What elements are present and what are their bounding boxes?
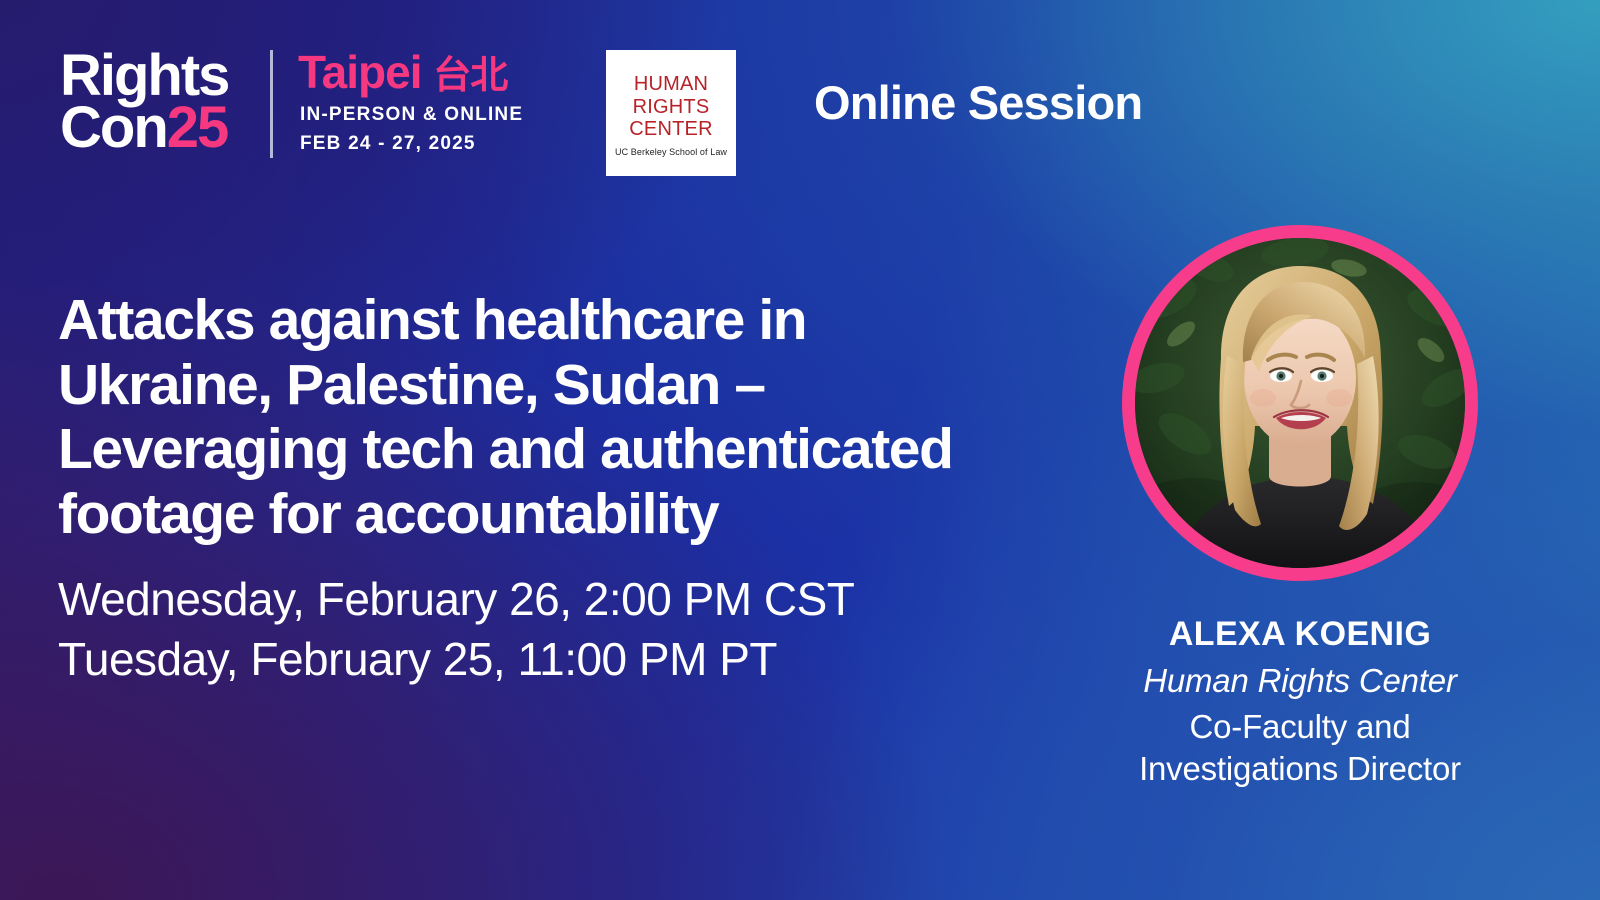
session-time-secondary: Tuesday, February 25, 11:00 PM PT xyxy=(58,629,1058,690)
rightscon-wordmark-con: Con xyxy=(60,95,167,160)
hrc-logo-subtitle: UC Berkeley School of Law xyxy=(615,147,727,157)
poster-background: Rights Con25 Taipei 台北 IN-PERSON & ONLIN… xyxy=(0,0,1600,900)
speaker-role-line2: Investigations Director xyxy=(1040,748,1560,790)
rightscon-wordmark-line2: Con25 xyxy=(60,94,227,161)
speaker-role-line1: Co-Faculty and xyxy=(1040,706,1560,748)
session-format-label: Online Session xyxy=(814,75,1142,130)
rightscon-year: 25 xyxy=(167,95,228,160)
rightscon-logo: Rights Con25 Taipei 台北 IN-PERSON & ONLIN… xyxy=(60,42,530,167)
speaker-card: ALEXA KOENIG Human Rights Center Co-Facu… xyxy=(1040,225,1560,790)
hrc-logo-line3: CENTER xyxy=(629,118,712,140)
speaker-name: ALEXA KOENIG xyxy=(1040,615,1560,654)
session-time-primary: Wednesday, February 26, 2:00 PM CST xyxy=(58,569,1058,630)
header: Rights Con25 Taipei 台北 IN-PERSON & ONLIN… xyxy=(0,0,1600,200)
speaker-avatar xyxy=(1122,225,1478,581)
hrc-logo-line1: HUMAN xyxy=(634,73,708,95)
session-times: Wednesday, February 26, 2:00 PM CST Tues… xyxy=(58,569,1058,690)
logo-divider xyxy=(270,50,273,158)
hrc-logo-line2: RIGHTS xyxy=(633,96,710,118)
session-title: Attacks against healthcare in Ukraine, P… xyxy=(58,288,1008,547)
speaker-portrait-photo xyxy=(1135,238,1465,568)
city-label-cjk: 台北 xyxy=(433,53,507,97)
human-rights-center-logo: HUMAN RIGHTS CENTER UC Berkeley School o… xyxy=(606,50,736,176)
speaker-role: Co-Faculty and Investigations Director xyxy=(1040,706,1560,790)
event-dates-line: FEB 24 - 27, 2025 xyxy=(300,133,476,155)
session-info: Attacks against healthcare in Ukraine, P… xyxy=(58,288,1058,690)
event-format-line: IN-PERSON & ONLINE xyxy=(300,104,523,126)
speaker-organization: Human Rights Center xyxy=(1040,662,1560,700)
city-label: Taipei 台北 xyxy=(298,44,507,99)
city-label-latin: Taipei xyxy=(298,46,422,98)
